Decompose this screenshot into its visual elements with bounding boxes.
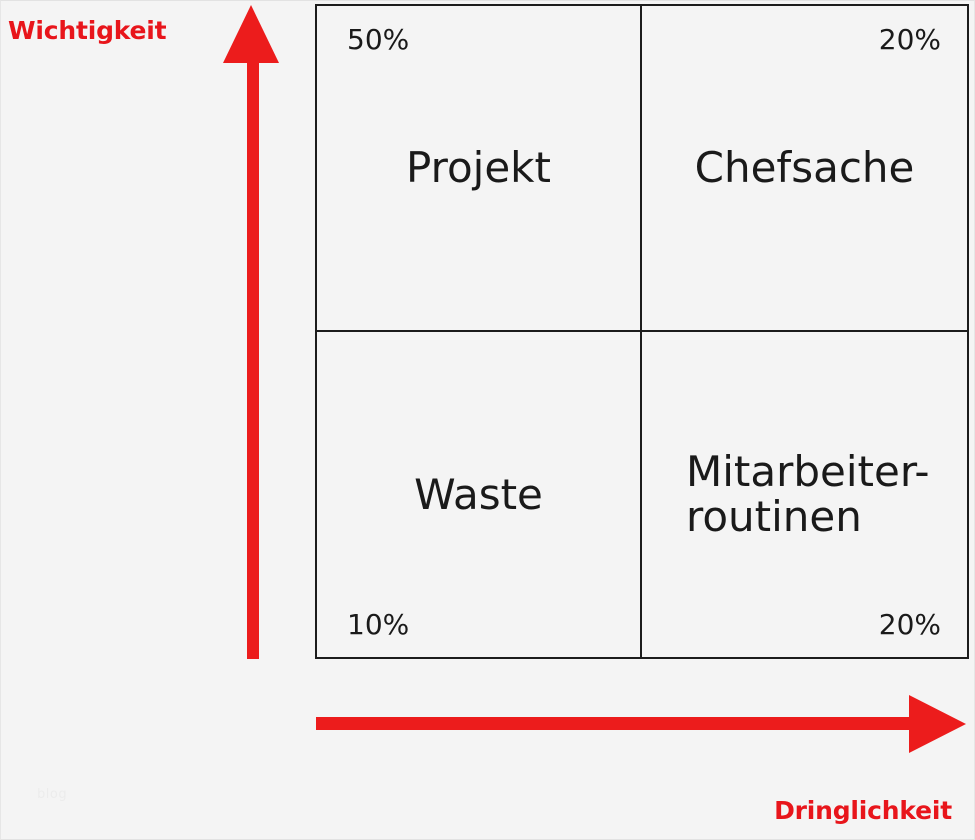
quadrant-mitarbeiterroutinen[interactable]: 20% Mitarbeiter- routinen [642,332,967,658]
importance-axis-arrow-icon [221,1,281,661]
x-axis-label: Dringlichkeit [774,796,952,825]
quadrant-chefsache[interactable]: 20% Chefsache [642,6,967,332]
watermark-text: blog [37,787,67,802]
quadrant-title-projekt: Projekt [394,145,563,190]
quadrant-percent-chefsache: 20% [879,26,941,54]
y-axis-label: Wichtigkeit [8,16,166,45]
quadrant-title-mitarbeiterroutinen: Mitarbeiter- routinen [642,449,967,540]
urgency-axis-arrow-icon [311,691,971,757]
quadrant-matrix: 50% Projekt 20% Chefsache 10% Waste 20% … [315,4,969,659]
quadrant-percent-projekt: 50% [347,26,409,54]
quadrant-title-waste: Waste [402,472,555,517]
quadrant-percent-waste: 10% [347,611,409,639]
eisenhower-matrix-diagram: Wichtigkeit 50% Projekt 20% Chefsache 10… [0,0,975,840]
quadrant-title-chefsache: Chefsache [683,145,927,190]
quadrant-waste[interactable]: 10% Waste [317,332,642,658]
quadrant-percent-mitarbeiterroutinen: 20% [879,611,941,639]
quadrant-projekt[interactable]: 50% Projekt [317,6,642,332]
